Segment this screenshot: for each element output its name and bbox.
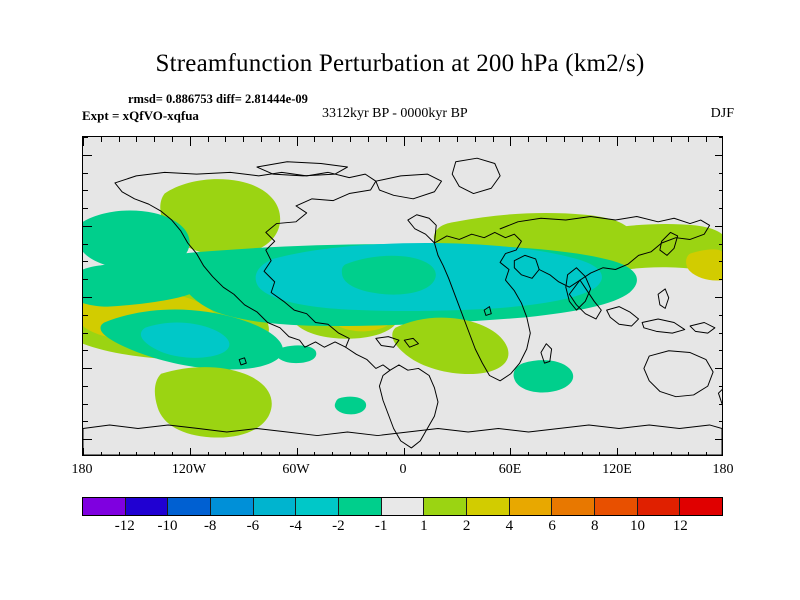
axis-tick [715,155,723,156]
axis-tick [279,137,280,142]
xtick-60e: 60E [475,462,545,478]
axis-tick [190,137,191,146]
axis-tick [386,452,387,456]
colorbar-tick-4: 4 [489,518,529,535]
xtick-0: 0 [368,462,438,478]
axis-tick [510,137,511,146]
xtick-60w: 60W [261,462,331,478]
xtick-120e: 120E [582,462,652,478]
axis-tick [83,386,88,387]
axis-tick [404,448,405,456]
colorbar-tick-neg8: -8 [190,518,230,535]
axis-tick [83,226,92,227]
axis-tick [83,368,92,369]
colorbar-tick-8: 8 [575,518,615,535]
axis-tick [719,350,723,351]
axis-tick [225,452,226,456]
experiment-label: Expt = xQfVO-xqfua [82,108,199,124]
axis-tick [83,137,88,138]
axis-tick [653,137,654,142]
axis-tick [350,452,351,456]
axis-tick [439,452,440,456]
axis-tick [617,137,618,146]
axis-tick [332,137,333,142]
climate-map-figure: Streamfunction Perturbation at 200 hPa (… [0,0,800,600]
colorbar-swatch-14 [680,498,722,515]
xtick-180w: 180 [47,462,117,478]
colorbar-swatch-10 [510,498,553,515]
axis-tick [719,315,723,316]
axis-tick [368,137,369,142]
axis-tick [688,452,689,456]
axis-tick [528,137,529,142]
axis-tick [101,137,102,142]
colorbar-tick-2: 2 [447,518,487,535]
colorbar-swatch-11 [552,498,595,515]
colorbar-swatch-12 [595,498,638,515]
axis-tick [671,137,672,142]
axis-tick [243,452,244,456]
axis-tick [83,279,88,280]
xtick-120w: 120W [154,462,224,478]
axis-tick [261,452,262,456]
axis-tick [172,137,173,142]
axis-tick [546,452,547,456]
axis-tick [719,244,723,245]
axis-tick [421,452,422,456]
colorbar-swatch-4 [254,498,297,515]
axis-tick [332,452,333,456]
axis-tick [719,173,723,174]
axis-tick [439,137,440,142]
axis-tick [457,452,458,456]
axis-tick [368,452,369,456]
colorbar-tick-neg4: -4 [276,518,316,535]
axis-tick [190,448,191,456]
world-map [83,137,722,455]
colorbar-swatch-9 [467,498,510,515]
axis-tick [83,333,88,334]
axis-tick [83,208,88,209]
axis-tick [119,452,120,456]
axis-tick [635,452,636,456]
axis-tick [83,297,92,298]
axis-tick [719,404,723,405]
colorbar-tick-neg2: -2 [318,518,358,535]
axis-tick [83,315,88,316]
colorbar-swatch-5 [296,498,339,515]
axis-tick [617,448,618,456]
axis-tick [653,452,654,456]
axis-tick [671,452,672,456]
axis-tick [208,137,209,142]
period-label: 3312kyr BP - 0000kyr BP [322,106,468,122]
axis-tick [119,137,120,142]
axis-tick [154,452,155,456]
axis-tick [83,448,84,456]
axis-tick [172,452,173,456]
axis-tick [715,226,723,227]
axis-tick [546,137,547,142]
axis-tick [83,173,88,174]
axis-tick [297,448,298,456]
axis-tick [243,137,244,142]
axis-tick [475,137,476,142]
colorbar-tick-neg10: -10 [147,518,187,535]
axis-tick [528,452,529,456]
axis-tick [706,452,707,456]
map-plot-area [82,136,723,456]
axis-tick [154,137,155,142]
rmsd-annotation: rmsd= 0.886753 diff= 2.81444e-09 [128,92,308,107]
xtick-180e: 180 [688,462,758,478]
page-title: Streamfunction Perturbation at 200 hPa (… [0,50,800,78]
axis-tick [564,452,565,456]
axis-tick [297,137,298,146]
axis-tick [719,386,723,387]
axis-tick [493,452,494,456]
colorbar-swatch-1 [126,498,169,515]
axis-tick [83,261,88,262]
colorbar-tick-neg12: -12 [105,518,145,535]
colorbar-swatch-0 [83,498,126,515]
axis-tick [101,452,102,456]
colorbar-swatch-8 [424,498,467,515]
axis-tick [582,452,583,456]
axis-tick [279,452,280,456]
axis-tick [564,137,565,142]
season-label: DJF [711,106,734,122]
colorbar-tick-1: 1 [404,518,444,535]
colorbar-tick-12: 12 [660,518,700,535]
axis-tick [715,297,723,298]
colorbar-tick-neg1: -1 [361,518,401,535]
axis-tick [386,137,387,142]
axis-tick [457,137,458,142]
axis-tick [715,439,723,440]
axis-tick [261,137,262,142]
axis-tick [719,279,723,280]
colorbar-tick-neg6: -6 [233,518,273,535]
colorbar-swatch-7 [382,498,425,515]
axis-tick [635,137,636,142]
axis-tick [719,421,723,422]
axis-tick [475,452,476,456]
axis-tick [404,137,405,146]
axis-tick [225,137,226,142]
axis-tick [136,452,137,456]
colorbar-tick-6: 6 [532,518,572,535]
axis-tick [719,208,723,209]
axis-tick [493,137,494,142]
axis-tick [350,137,351,142]
axis-tick [136,137,137,142]
axis-tick [83,137,84,146]
axis-tick [83,244,88,245]
axis-tick [421,137,422,142]
axis-tick [706,137,707,142]
axis-tick [582,137,583,142]
axis-tick [599,137,600,142]
axis-tick [314,137,315,142]
axis-tick [83,439,92,440]
axis-tick [83,350,88,351]
axis-tick [83,421,88,422]
axis-tick [83,190,88,191]
axis-tick [719,333,723,334]
axis-tick [715,368,723,369]
colorbar-swatch-6 [339,498,382,515]
axis-tick [719,137,723,138]
colorbar [82,497,723,516]
colorbar-swatch-3 [211,498,254,515]
axis-tick [83,155,92,156]
axis-tick [719,190,723,191]
axis-tick [208,452,209,456]
axis-tick [510,448,511,456]
colorbar-tick-10: 10 [618,518,658,535]
colorbar-swatch-13 [638,498,681,515]
axis-tick [688,137,689,142]
axis-tick [719,261,723,262]
axis-tick [599,452,600,456]
axis-tick [314,452,315,456]
axis-tick [83,404,88,405]
colorbar-swatch-2 [168,498,211,515]
